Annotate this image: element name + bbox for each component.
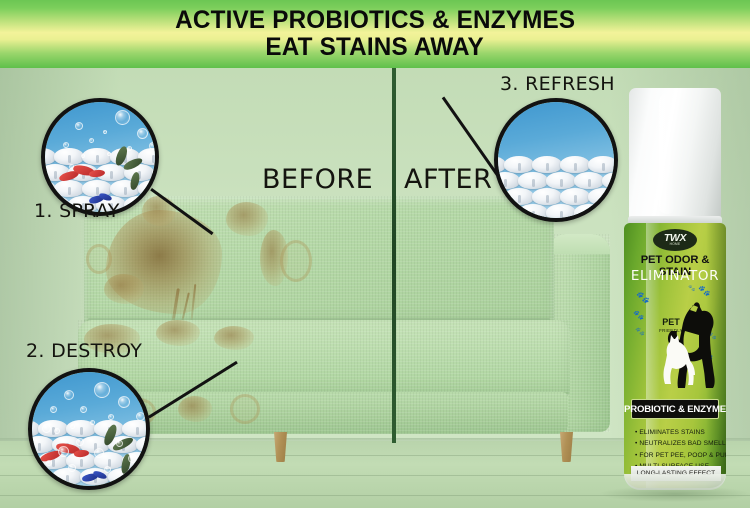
- bottle-label: TWX HOME PET ODOR & STAIN ELIMINATOR 🐾 🐾…: [624, 223, 726, 488]
- stain: [178, 396, 212, 422]
- stain: [156, 320, 200, 346]
- product-bottle: TWX HOME PET ODOR & STAIN ELIMINATOR 🐾 🐾…: [613, 88, 737, 496]
- stain: [226, 202, 268, 236]
- benefit-item: NEUTRALIZES BAD SMELLS: [635, 438, 723, 449]
- infographic-stage: BEFORE AFTER: [0, 0, 750, 508]
- refresh-magnifier: [494, 98, 618, 222]
- benefit-item: FOR PET PEE, POOP & PUKE: [635, 450, 723, 461]
- sofa-leg: [274, 432, 287, 462]
- before-label: BEFORE: [262, 164, 373, 195]
- paw-print-icon: 🐾: [688, 286, 695, 292]
- stain-ring: [280, 240, 312, 282]
- destroy-magnifier: [28, 368, 150, 490]
- brand-logo: TWX HOME: [653, 229, 697, 251]
- sofa-seat-cushion: [78, 320, 570, 398]
- cat-silhouette-icon: [662, 335, 696, 387]
- paw-print-icon: 🐾: [635, 328, 645, 336]
- stain: [214, 326, 254, 350]
- paw-print-icon: 🐾: [636, 293, 650, 304]
- technology-band-text: PROBIOTIC & ENZYME: [624, 404, 726, 415]
- stain-ring: [230, 394, 260, 424]
- brand-logo-subtext: HOME: [670, 243, 681, 247]
- cap-highlight: [659, 94, 675, 214]
- stain: [104, 274, 144, 304]
- sofa: [78, 196, 608, 458]
- fiber-weave: [498, 158, 614, 218]
- header-banner: ACTIVE PROBIOTICS & ENZYMES EAT STAINS A…: [0, 0, 750, 68]
- sofa-backrest: [84, 196, 554, 328]
- callout-label-refresh: 3. REFRESH: [500, 73, 615, 95]
- paw-print-icon: 🐾: [633, 311, 644, 320]
- bottle-bottom: [624, 474, 726, 490]
- spray-magnifier: [41, 98, 159, 216]
- header-line-2: EAT STAINS AWAY: [266, 34, 485, 61]
- technology-band: PROBIOTIC & ENZYME: [631, 399, 719, 419]
- callout-label-destroy: 2. DESTROY: [26, 340, 142, 362]
- callout-label-spray: 1. SPRAY: [34, 200, 120, 222]
- sofa-armrest-top: [548, 234, 610, 254]
- sofa-leg: [560, 432, 573, 462]
- bottle-cap: [629, 88, 721, 222]
- before-after-divider: [392, 68, 396, 443]
- after-label: AFTER: [404, 164, 492, 195]
- product-title-line2: ELIMINATOR: [624, 268, 726, 284]
- stain: [260, 230, 288, 286]
- stain-ring: [86, 244, 112, 274]
- header-line-1: ACTIVE PROBIOTICS & ENZYMES: [175, 7, 575, 34]
- benefit-item: ELIMINATES STAINS: [635, 427, 723, 438]
- paw-print-icon: 🐾: [698, 287, 710, 297]
